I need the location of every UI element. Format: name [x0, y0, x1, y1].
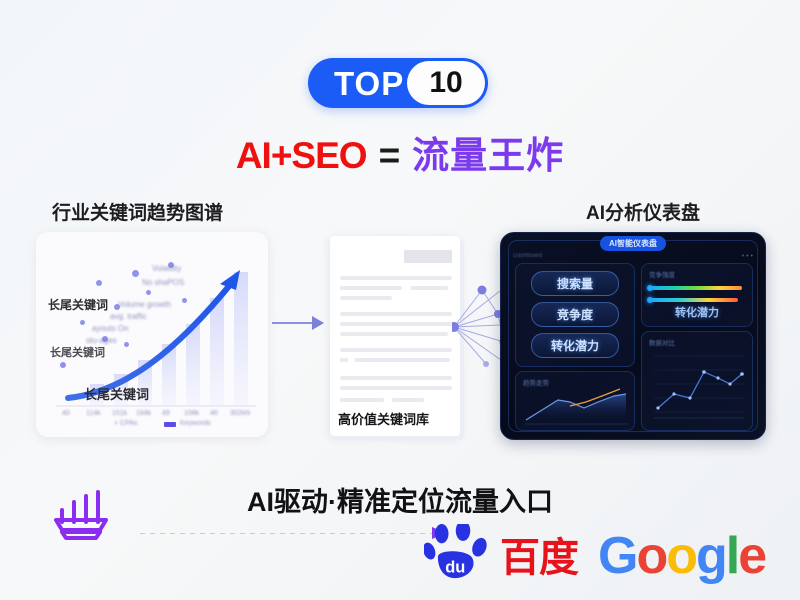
footer-dashed-connector — [140, 533, 440, 534]
dashboard-subtitle: Dashboard — [513, 253, 542, 259]
metric-pill-search-volume[interactable]: 搜索量 — [531, 271, 619, 296]
x-tick-label: 46 — [210, 410, 218, 417]
metric-pill-conversion[interactable]: 转化潜力 — [531, 333, 619, 358]
doc-line — [340, 286, 402, 290]
section-title-dashboard: AI分析仪表盘 — [586, 198, 700, 225]
top-rank-badge: TOP 10 — [308, 58, 488, 108]
blurred-chart-text: Volume growth — [118, 300, 171, 309]
gradient-bar — [650, 298, 738, 302]
x-tick-label: 184k — [136, 410, 151, 417]
baidu-wordmark: 百度 — [500, 538, 578, 578]
legend-swatch — [164, 422, 176, 427]
x-tick-label: 49 — [162, 410, 170, 417]
line-chart-svg — [642, 332, 752, 430]
doc-line — [340, 312, 452, 316]
keyword-label: 长尾关键词 — [50, 344, 105, 360]
doc-line — [392, 398, 424, 402]
scatter-dot — [182, 298, 187, 303]
footer-tagline: AI驱动·精准定位流量入口 — [0, 480, 800, 519]
headline-right: 流量王炸 — [412, 135, 564, 176]
intensity-gauge-panel: 竞争强度 转化潜力 — [641, 263, 753, 327]
google-letter-l: l — [726, 530, 738, 582]
comparison-chart-panel: 数据对比 — [641, 331, 753, 431]
axis-note: + CPAs — [114, 420, 137, 427]
dashboard-title-badge: AI智能仪表盘 — [600, 236, 666, 251]
doc-bullet — [340, 358, 348, 362]
google-letter-g2: g — [696, 530, 726, 582]
doc-line — [354, 358, 450, 362]
google-letter-o1: o — [636, 530, 666, 582]
trend-chart-svg — [36, 232, 268, 437]
doc-line — [340, 376, 452, 380]
blurred-chart-text: avg. traffic — [110, 312, 147, 321]
dashboard-menu-icon[interactable]: ••• — [742, 253, 755, 260]
scatter-dot — [146, 290, 151, 295]
doc-line — [340, 332, 448, 336]
keyword-trend-card: Volatility No shaPOS Volume growth avg. … — [36, 232, 268, 437]
keyword-library-document: 高价值关键词库 — [330, 236, 460, 436]
doc-line — [340, 348, 452, 352]
top-badge-number: 10 — [429, 68, 462, 98]
keyword-label: 长尾关键词 — [48, 296, 108, 313]
trend-area-chart-panel: 趋势走势 — [515, 371, 635, 431]
doc-line — [340, 398, 384, 402]
baidu-paw-icon: du — [424, 524, 502, 582]
blurred-chart-text: No shaPOS — [142, 278, 184, 287]
svg-text:du: du — [445, 558, 465, 576]
google-letter-o2: o — [666, 530, 696, 582]
top-badge-label: TOP — [334, 67, 404, 100]
slide-canvas: TOP 10 AI+SEO=流量王炸 行业关键词趋势图谱 AI分析仪表盘 — [0, 0, 800, 600]
x-tick-label: 108k — [184, 410, 199, 417]
panel-caption: 竞争强度 — [649, 269, 675, 279]
google-letter-e: e — [738, 530, 765, 582]
x-tick-label: 302kN — [230, 410, 250, 417]
scatter-dot — [96, 280, 102, 286]
document-caption: 高价值关键词库 — [338, 409, 429, 428]
page-title: AI+SEO=流量王炸 — [0, 125, 800, 179]
scatter-dot — [60, 362, 66, 368]
top-badge-number-circle: 10 — [407, 61, 485, 105]
x-tick-label: 114k — [86, 410, 101, 417]
area-chart-svg — [516, 372, 634, 430]
section-title-trend: 行业关键词趋势图谱 — [52, 198, 223, 225]
x-tick-label: 151k — [112, 410, 127, 417]
legend-label: Keywords — [180, 420, 211, 427]
google-wordmark: Google — [598, 530, 765, 582]
headline-left: AI+SEO — [236, 135, 367, 176]
blurred-chart-text: Volatility — [152, 264, 181, 273]
flow-arrow-icon — [272, 312, 324, 334]
ai-dashboard-card: AI智能仪表盘 Dashboard ••• 搜索量 竞争度 转化潜力 趋势走势 — [500, 232, 766, 440]
blurred-chart-text: ayouts On — [92, 324, 128, 333]
doc-line — [410, 286, 448, 290]
keyword-label: 长尾关键词 — [84, 384, 149, 403]
scatter-dot — [132, 270, 139, 277]
doc-header-block — [404, 250, 452, 263]
headline-equals: = — [379, 135, 401, 176]
doc-line — [340, 322, 452, 326]
scatter-dot — [124, 342, 129, 347]
google-letter-g1: G — [598, 530, 636, 582]
doc-line — [340, 276, 452, 280]
doc-line — [340, 296, 392, 300]
scatter-dot — [80, 320, 85, 325]
gradient-bar — [650, 286, 742, 290]
doc-line — [340, 386, 452, 390]
metric-pill-panel: 搜索量 竞争度 转化潜力 — [515, 263, 635, 367]
conversion-potential-label: 转化潜力 — [675, 304, 719, 320]
search-engine-logos: du 百度 Google — [424, 516, 764, 586]
x-tick-label: 40 — [62, 410, 70, 417]
metric-pill-competition[interactable]: 竞争度 — [531, 302, 619, 327]
